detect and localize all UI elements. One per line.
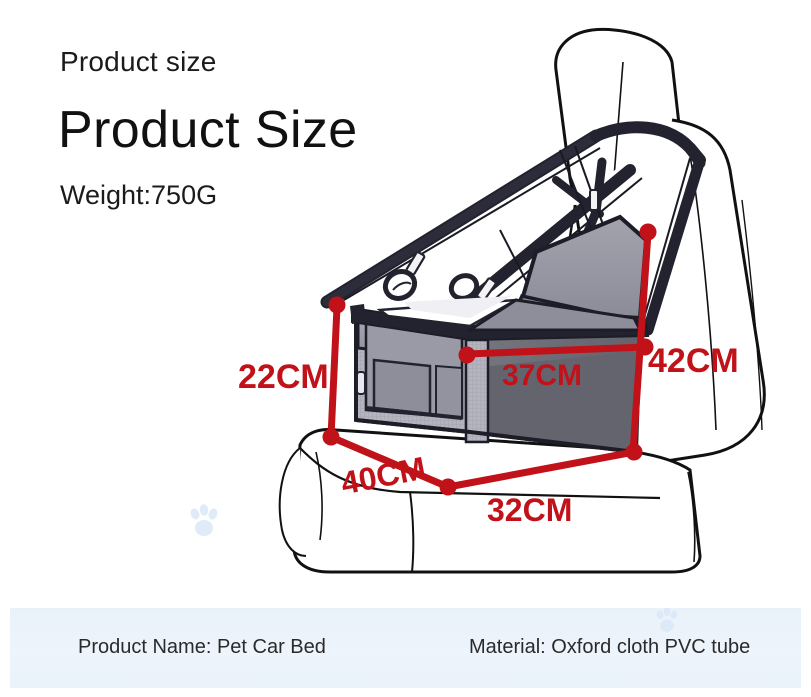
product-illustration [0,0,811,620]
product-size-infographic: Product size Product Size Weight:750G [0,0,811,697]
dimension-label-32cm: 32CM [487,492,572,529]
dimension-line-22cm [331,307,337,437]
footer-info-bar: Product Name: Pet Car Bed Material: Oxfo… [10,608,801,688]
paw-print-icon [650,608,684,638]
footer-material: Material: Oxford cloth PVC tube [469,636,750,659]
dimension-label-37cm: 37CM [502,359,582,393]
dimension-label-22cm: 22CM [238,358,329,397]
footer-product-name: Product Name: Pet Car Bed [78,636,326,659]
dimension-label-42cm: 42CM [648,342,739,381]
paw-print-icon [182,500,226,544]
pet-car-bed [350,217,648,452]
